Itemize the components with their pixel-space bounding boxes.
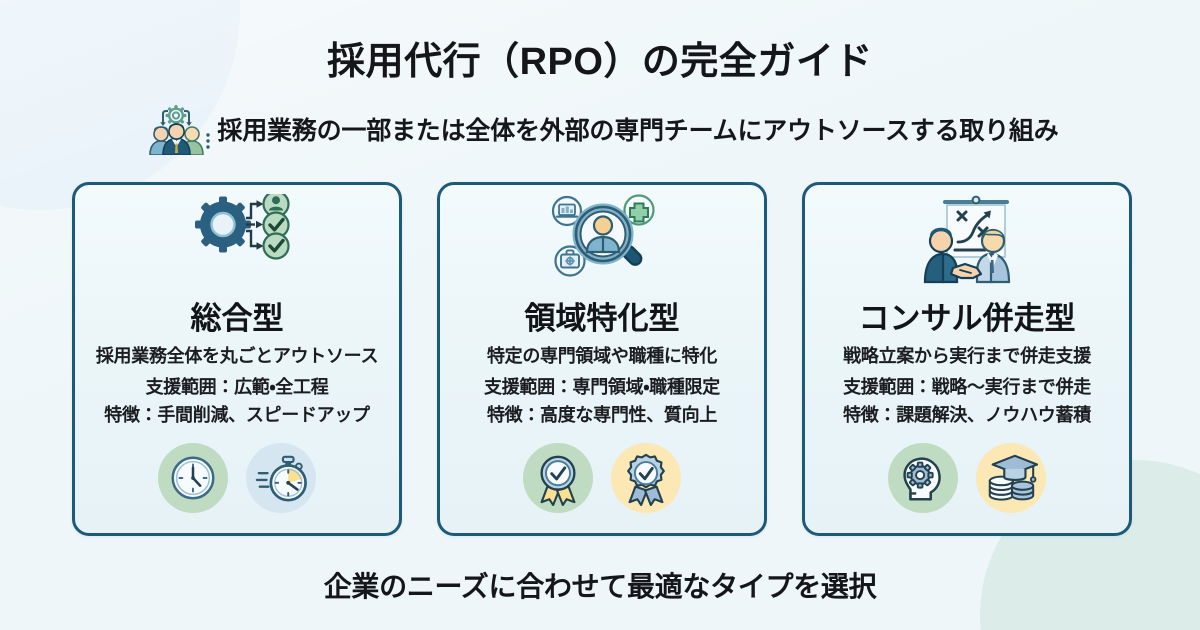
award-ribbon-check-icon: [531, 450, 585, 506]
card-scope: 支援範囲：専門領域・職種限定: [440, 374, 764, 402]
card-badges: [75, 441, 399, 515]
clock-icon: [166, 451, 220, 505]
card-title: 領域特化型: [440, 293, 764, 338]
head-gear-thinking-icon: [896, 451, 950, 505]
infographic-canvas: 採用代行（RPO）の完全ガイド: [0, 0, 1200, 630]
badge-stopwatch: [246, 443, 316, 513]
magnifier-candidate-search-icon: [546, 194, 658, 291]
card-badges: [440, 441, 764, 515]
card-comprehensive-type[interactable]: 総合型 採用業務全体を丸ごとアウトソース 支援範囲：広範・全工程 特徴：手間削減…: [72, 182, 402, 536]
card-header-icon: [75, 197, 399, 287]
card-title: 総合型: [75, 293, 399, 338]
footer-caption: 企業のニーズに合わせて最適なタイプを選択: [0, 565, 1200, 605]
badge-award-rosette: [611, 443, 681, 513]
card-lead: 戦略立案から実行まで併走支援: [805, 343, 1129, 371]
handshake-strategy-board-icon: [903, 194, 1031, 291]
card-header-icon: [805, 197, 1129, 287]
badge-clock: [158, 443, 228, 513]
card-feature: 特徴：課題解決、ノウハウ蓄積: [805, 402, 1129, 430]
card-specialized-type[interactable]: 領域特化型 特定の専門領域や職種に特化 支援範囲：専門領域・職種限定 特徴：高度…: [437, 182, 767, 536]
card-body: 戦略立案から実行まで併走支援 支援範囲：戦略〜実行まで併走 特徴：課題解決、ノウ…: [805, 343, 1129, 430]
card-row: 総合型 採用業務全体を丸ごとアウトソース 支援範囲：広範・全工程 特徴：手間削減…: [72, 182, 1132, 536]
card-consulting-type[interactable]: コンサル併走型 戦略立案から実行まで併走支援 支援範囲：戦略〜実行まで併走 特徴…: [802, 182, 1132, 536]
award-rosette-check-icon: [619, 450, 673, 506]
card-header-icon: [440, 197, 764, 287]
card-body: 採用業務全体を丸ごとアウトソース 支援範囲：広範・全工程 特徴：手間削減、スピー…: [75, 343, 399, 430]
card-badges: [805, 441, 1129, 515]
card-feature: 特徴：高度な専門性、質向上: [440, 402, 764, 430]
card-lead: 採用業務全体を丸ごとアウトソース: [75, 343, 399, 371]
card-lead: 特定の専門領域や職種に特化: [440, 343, 764, 371]
card-feature: 特徴：手間削減、スピードアップ: [75, 402, 399, 430]
page-title: 採用代行（RPO）の完全ガイド: [0, 30, 1200, 85]
graduation-cap-coins-icon: [983, 451, 1039, 505]
page-subtitle: 採用業務の一部または全体を外部の専門チームにアウトソースする取り組み: [217, 111, 1058, 147]
badge-award-ribbon: [523, 443, 593, 513]
gear-workflow-checklist-icon: [177, 194, 297, 291]
subtitle-row: 採用業務の一部または全体を外部の専門チームにアウトソースする取り組み: [0, 103, 1200, 155]
badge-graduation-coins: [976, 443, 1046, 513]
card-scope: 支援範囲：広範・全工程: [75, 374, 399, 402]
card-body: 特定の専門領域や職種に特化 支援範囲：専門領域・職種限定 特徴：高度な専門性、質…: [440, 343, 764, 430]
card-title: コンサル併走型: [805, 293, 1129, 338]
stopwatch-icon: [253, 451, 309, 505]
badge-head-gear: [888, 443, 958, 513]
card-scope: 支援範囲：戦略〜実行まで併走: [805, 374, 1129, 402]
team-gear-outsourcing-icon: [141, 103, 211, 155]
